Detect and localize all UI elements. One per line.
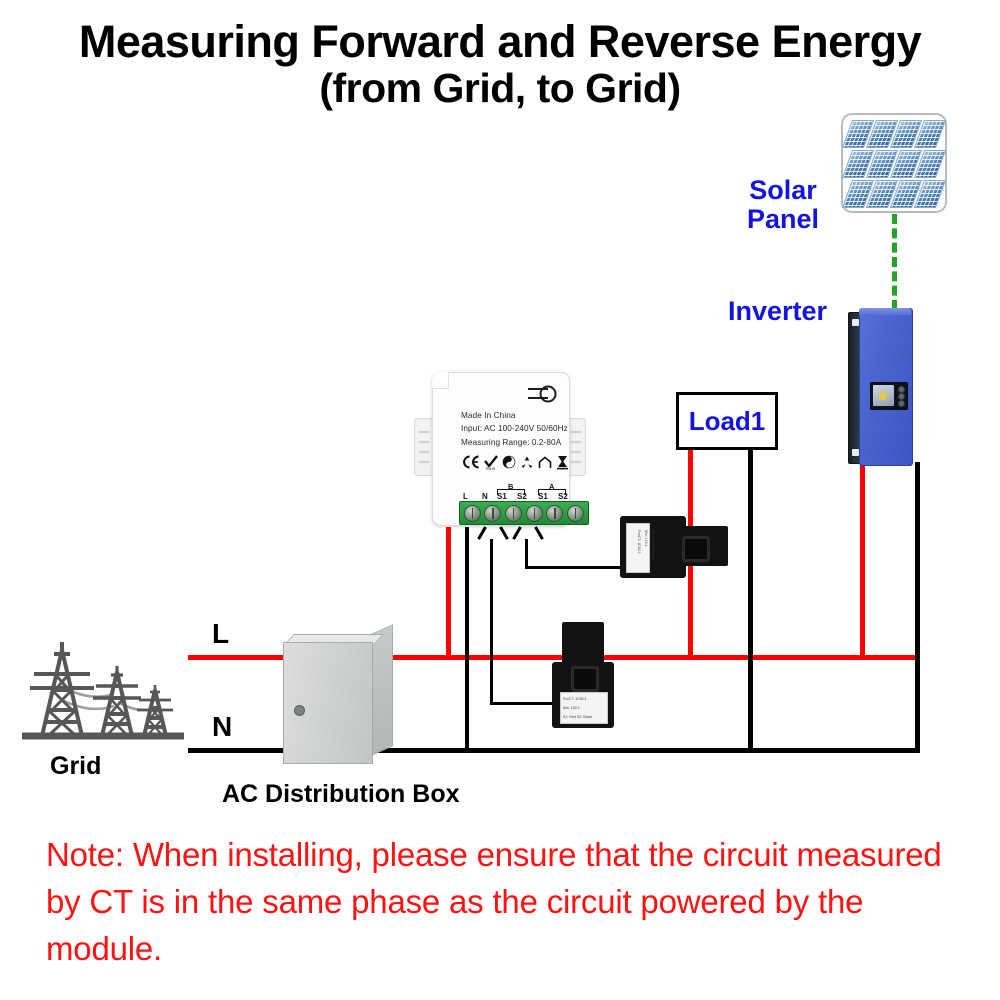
ct-lower-label-line1: FxxCT: 1C80:1 — [563, 697, 587, 701]
wire-ct-b-trunk — [490, 539, 493, 705]
ct-clamp-lower[interactable]: FxxCT: 1C80:1 Min: 100:1 S1: Red S2: Bla… — [552, 622, 614, 728]
inverter-lcd-screen — [873, 385, 894, 406]
ct-lower-label-line3: S1: Red S2: Black — [563, 715, 592, 719]
house-icon — [538, 456, 552, 469]
solar-panel-row — [847, 150, 941, 176]
wire-solar-dc — [892, 214, 897, 310]
inverter-mount-top — [852, 319, 859, 326]
svg-text:RoHS: RoHS — [486, 467, 496, 470]
label-line-N: N — [212, 711, 232, 743]
weee-crossed-bin-icon — [556, 455, 569, 470]
title-line-2: (from Grid, to Grid) — [0, 67, 1000, 110]
solar-panel-label-line2: Panel — [735, 205, 831, 234]
terminal-label-b-s1: S1 — [497, 492, 507, 501]
circle-swirl-icon — [502, 455, 516, 469]
wire-inverter-live — [860, 462, 865, 658]
inverter-button[interactable] — [898, 386, 905, 393]
terminal-screw-n[interactable] — [484, 505, 501, 522]
distribution-box-label: AC Distribution Box — [222, 780, 460, 809]
wire-ct-a-trunk — [525, 539, 528, 569]
terminal-label-b-s2: S2 — [517, 492, 527, 501]
ct-upper-label-line2: Min: 100:1 — [644, 530, 648, 570]
solar-panel-row — [847, 180, 941, 206]
inverter-mount-bottom — [852, 449, 859, 456]
label-line-L: L — [212, 618, 229, 650]
terminal-screw-a-s1[interactable] — [546, 505, 563, 522]
installation-note: Note: When installing, please ensure tha… — [46, 832, 966, 973]
solar-panel-label-line1: Solar — [735, 176, 831, 205]
wire-load1-neutral — [748, 443, 753, 753]
module-made-in: Made In China — [461, 409, 581, 422]
wire-module-live-drop — [446, 527, 451, 658]
terminal-label-a-s1: S1 — [538, 492, 548, 501]
module-input-spec: Input: AC 100-240V 50/60Hz — [461, 422, 581, 435]
module-measuring-range: Measuring Range: 0.2-80A — [461, 436, 581, 449]
grid-tower-icon — [18, 628, 188, 746]
diagram-canvas: Measuring Forward and Reverse Energy (fr… — [0, 0, 1000, 1000]
solar-panel-icon[interactable] — [841, 113, 947, 213]
reset-pair-icon[interactable] — [527, 383, 557, 405]
recycle-icon — [520, 455, 534, 469]
ct-clamp-upper[interactable]: FxxCT: 1C80:1 Min: 100:1 S1: Red S2: Bla… — [620, 516, 728, 578]
dbox-latch-icon[interactable] — [294, 705, 305, 716]
wire-module-neutral-drop — [465, 527, 469, 753]
energy-meter-module[interactable]: Made In China Input: AC 100-240V 50/60Hz… — [414, 372, 586, 532]
inverter-label: Inverter — [728, 297, 827, 326]
inverter-top-face — [859, 308, 911, 315]
title-line-1: Measuring Forward and Reverse Energy — [0, 18, 1000, 65]
rohs-icon: RoHS — [484, 455, 498, 470]
terminal-label-n: N — [482, 492, 488, 501]
certification-marks: RoHS — [461, 451, 583, 473]
load1-label: Load1 — [689, 406, 766, 437]
module-body: Made In China Input: AC 100-240V 50/60Hz… — [432, 372, 570, 526]
page-title: Measuring Forward and Reverse Energy (fr… — [0, 18, 1000, 110]
module-spec-text: Made In China Input: AC 100-240V 50/60Hz… — [461, 409, 581, 449]
dbox-door[interactable] — [283, 642, 373, 764]
solar-panel-row — [847, 120, 941, 146]
terminal-screw-l[interactable] — [464, 505, 481, 522]
ct-lower-label: FxxCT: 1C80:1 Min: 100:1 S1: Red S2: Bla… — [560, 692, 608, 724]
terminal-block[interactable] — [459, 501, 589, 525]
terminal-screw-a-s2[interactable] — [567, 505, 584, 522]
inverter-button[interactable] — [898, 393, 905, 400]
ce-mark-icon — [461, 455, 480, 469]
ct-upper-label: FxxCT: 1C80:1 Min: 100:1 S1: Red S2: Bla… — [626, 523, 650, 573]
wire-inverter-neutral — [915, 462, 920, 753]
terminal-labels: B A L N S1 S2 S1 S2 — [461, 488, 581, 502]
ct-lower-jaw — [571, 666, 599, 692]
solar-panel-label: Solar Panel — [735, 176, 831, 234]
terminal-label-a-s2: S2 — [558, 492, 568, 501]
terminal-screw-b-s1[interactable] — [505, 505, 522, 522]
terminal-screw-b-s2[interactable] — [526, 505, 543, 522]
ct-upper-label-line1: FxxCT: 1C80:1 — [637, 530, 641, 570]
module-mount-tab-left — [414, 418, 434, 476]
wire-ct-a-run — [525, 566, 628, 569]
inverter-display[interactable] — [870, 382, 908, 410]
terminal-label-l: L — [463, 492, 468, 501]
ct-lower-label-line2: Min: 100:1 — [563, 706, 580, 710]
inverter-button[interactable] — [898, 400, 905, 407]
grid-label: Grid — [50, 752, 101, 781]
ct-upper-label-line3: S1: Red S2: Black — [651, 530, 655, 570]
ct-upper-jaw — [682, 536, 710, 562]
ac-distribution-box[interactable] — [283, 634, 393, 762]
load1-box[interactable]: Load1 — [676, 392, 778, 450]
inverter-device[interactable] — [848, 308, 916, 466]
